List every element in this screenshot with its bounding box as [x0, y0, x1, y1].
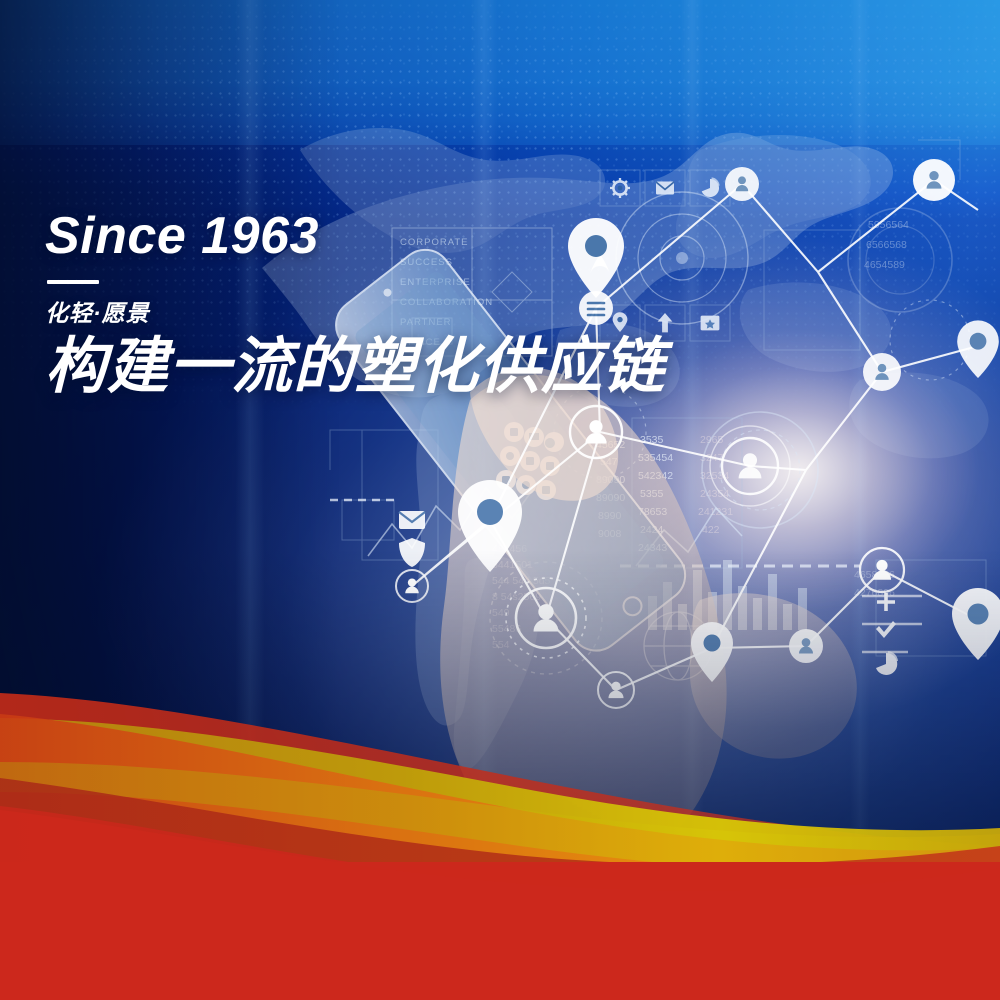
- banner-canvas: CORPORATE SUCCESS ENTERPRISE COLLABORATI…: [0, 0, 1000, 1000]
- wave-decoration: [0, 670, 1000, 1000]
- divider-rule: [47, 280, 99, 284]
- eyebrow-text: Since 1963: [45, 210, 605, 262]
- subtitle-text: 化轻·愿景: [45, 294, 605, 328]
- headline-block: Since 1963 化轻·愿景 构建一流的塑化供应链: [45, 210, 605, 399]
- page-title: 构建一流的塑化供应链: [45, 334, 605, 399]
